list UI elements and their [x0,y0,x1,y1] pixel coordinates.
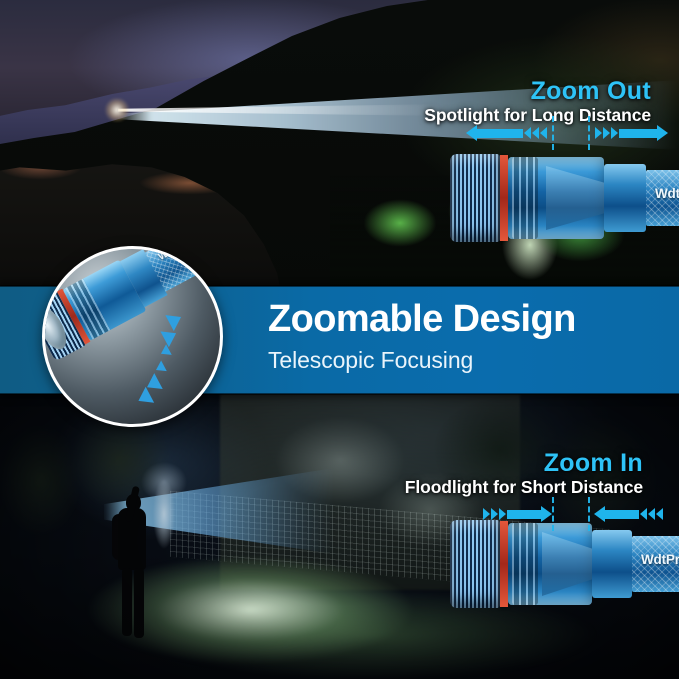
arrow-head-left-icon [594,506,605,522]
zoom-in-title: Zoom In [405,450,643,476]
flashlight-bezel [450,154,500,242]
arrow-shaft [619,129,657,138]
zoom-in-label-group: Zoom In Floodlight for Short Distance [405,450,643,498]
arrow-head-right-icon [541,506,552,522]
hiker-silhouette [110,482,156,642]
zoom-out-title: Zoom Out [424,78,651,104]
red-accent-ring [500,521,508,607]
arrow-pointing-right-inward [482,506,552,522]
flashlight-neck [604,164,646,232]
flashlight-neck [592,530,632,598]
arrow-pointing-left-inward [594,506,664,522]
chevrons-left-icon [524,127,547,139]
banner-text-group: Zoomable Design Telescopic Focusing [268,300,576,374]
arrow-pointing-right [594,125,668,141]
brand-name: WdtPro [641,552,679,567]
arrow-shaft [605,510,639,519]
product-feature-image: Zoom Out Spotlight for Long Distance Wdt… [0,0,679,679]
dashed-guide-left [552,497,554,531]
zoom-out-arrow-row [466,122,676,144]
brand-logo: WdtPro® [655,186,679,201]
flashlight-closeup-inset: WdtPro [42,246,223,427]
dashed-guide-right [588,497,590,531]
spotlight-source-glow [104,98,130,122]
flashlight-zoomed-out: WdtPro® [450,150,679,246]
chevrons-right-icon [595,127,618,139]
flashlight-bezel [450,520,500,608]
red-accent-ring [500,155,508,241]
chevrons-left-icon [640,508,663,520]
banner-title: Zoomable Design [268,300,576,338]
zoom-out-label-group: Zoom Out Spotlight for Long Distance [424,78,651,126]
dashed-guide-right [588,116,590,150]
arrow-head-left-icon [466,125,477,141]
hiker-leg-right [134,568,144,638]
arrow-shaft [477,129,523,138]
head-grooves [512,523,538,605]
hiker-leg-left [122,568,132,636]
arrow-pointing-left [466,125,548,141]
flashlight-zoomed-in: WdtPro®IS [450,516,679,612]
dashed-guide-left [552,116,554,150]
head-grooves [512,157,538,239]
zoom-in-subtitle: Floodlight for Short Distance [405,477,643,498]
brand-logo: WdtPro®IS [641,552,679,567]
zoom-in-arrow-row [466,503,676,525]
brand-name: WdtPro [655,186,679,201]
banner-subtitle: Telescopic Focusing [268,347,576,374]
arrow-shaft [507,510,541,519]
chevrons-right-icon [483,508,506,520]
arrow-head-right-icon [657,125,668,141]
